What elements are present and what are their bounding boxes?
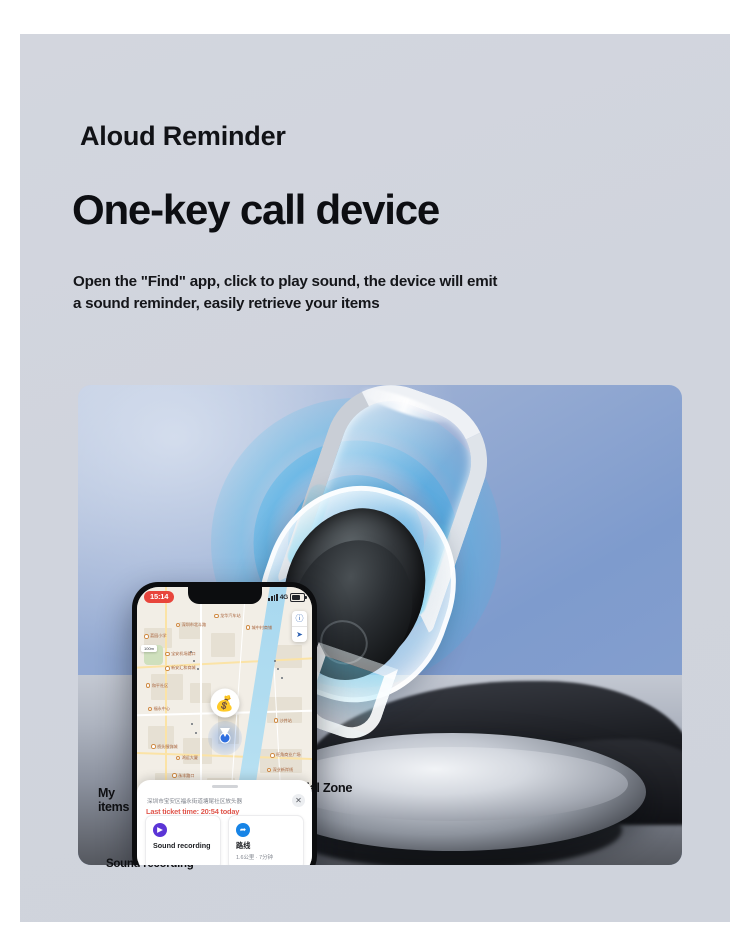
status-indicators: 4G [268,593,305,602]
map-poi: 旺角商业广场 [270,752,301,758]
sheet-grabber[interactable] [212,785,238,788]
play-icon: ▶ [153,823,167,837]
signal-icon [268,594,277,601]
phone-notch [188,587,262,604]
close-icon[interactable]: ✕ [292,794,305,807]
card-title: Sound recording [153,842,213,851]
map-poi: 龙华汽车站 [214,613,241,619]
map-poi: 荔园小学 [144,633,166,639]
map-poi: 深业新岸线 [267,767,294,773]
phone-mockup: 荔园小学 深圳市北斗路 龙华汽车站 城中村商铺 宝安机场路口 新安汇和商城 和平… [132,582,317,865]
phone-screen: 荔园小学 深圳市北斗路 龙华汽车站 城中村商铺 宝安机场路口 新安汇和商城 和平… [137,587,312,865]
map-poi: 城中村商铺 [246,625,273,631]
map-controls[interactable]: ⓘ ➤ [292,611,307,642]
map-poi: 新安汇和商城 [165,665,196,671]
card-route[interactable]: ➦ 路线 1.6公里 · 7分钟 [228,815,304,865]
page-title: One-key call device [72,186,439,234]
route-icon: ➦ [236,823,250,837]
map-scale-label: 100m [141,645,157,652]
description-text: Open the "Find" app, click to play sound… [73,271,503,314]
map-pin-marker[interactable]: 💰 [210,689,239,718]
card-sound-recording[interactable]: ▶ Sound recording [145,815,221,865]
status-time: 15:14 [144,591,174,603]
map-pin-tail [220,728,230,737]
map-poi: 深圳市北斗路 [176,622,207,628]
card-title: 路线 [236,842,296,851]
kicker-text: Aloud Reminder [80,121,286,152]
sheet-address: 深圳市宝安区福永街道塘尾社区放头器 [147,797,286,805]
map-poi: 和平社区 [146,683,168,689]
card-subtitle: 1.6公里 · 7分钟 [236,853,296,861]
promo-page: Aloud Reminder One-key call device Open … [20,34,730,922]
action-cards: ▶ Sound recording ➦ 路线 1.6公里 · 7分钟 [145,815,304,865]
product-photo: 荔园小学 深圳市北斗路 龙华汽车站 城中村商铺 宝安机场路口 新安汇和商城 和平… [78,385,682,865]
locate-icon[interactable]: ➤ [292,626,307,642]
map-poi: 福永中心 [148,706,170,712]
map-poi: 永丰路口 [172,773,194,779]
compass-icon[interactable]: ⓘ [292,611,307,626]
bottom-sheet: ✕ 深圳市宝安区福永街道塘尾社区放头器 Last ticket time: 20… [137,780,312,865]
network-label: 4G [280,594,288,601]
map-poi: 宝安机场路口 [165,651,196,657]
map-poi: 鸿运大厦 [176,755,198,761]
map-poi: 沙井站 [274,718,292,724]
map-poi: 桥头服饰城 [151,744,178,750]
battery-icon [290,593,305,602]
